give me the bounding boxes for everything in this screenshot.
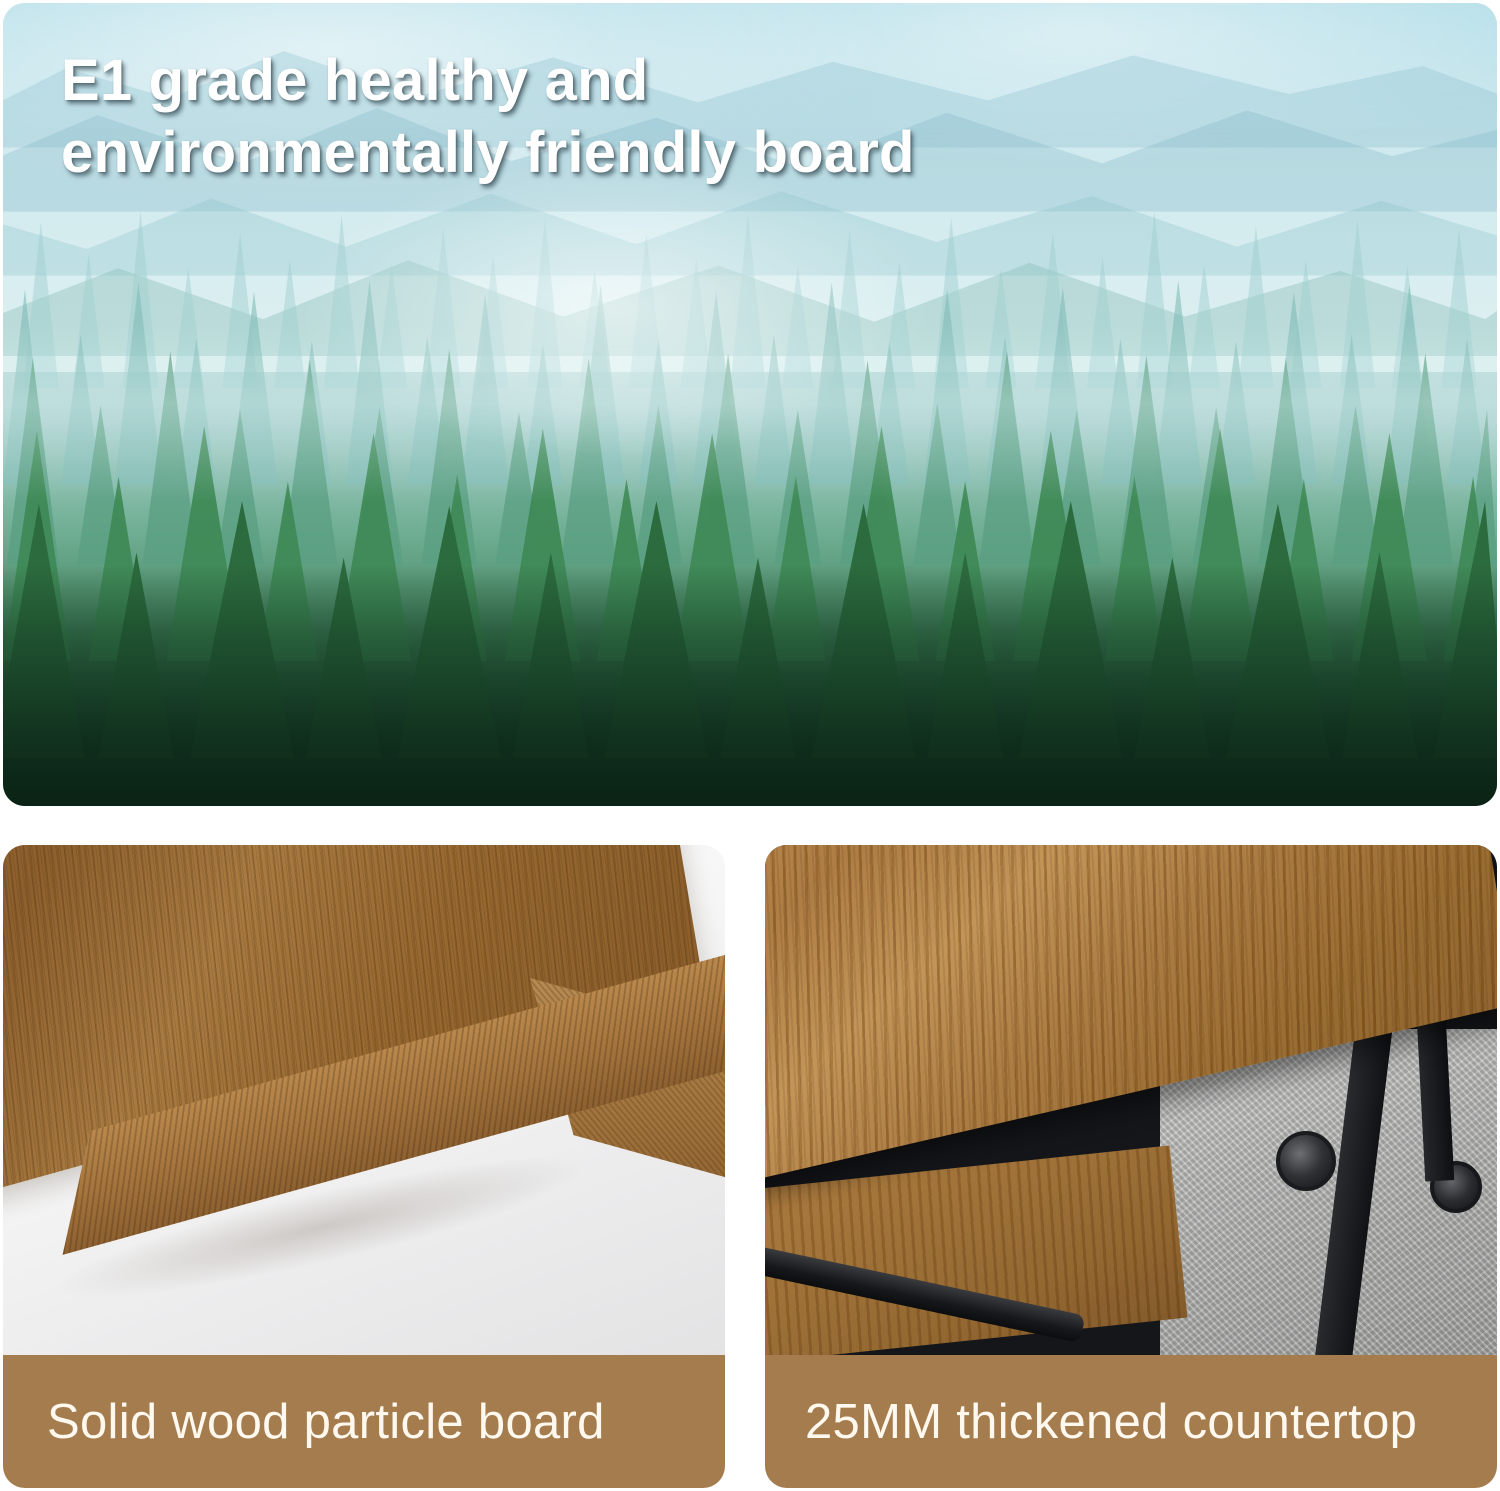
wood-slab-photo — [3, 845, 725, 1355]
caption-text-countertop: 25MM thickened countertop — [805, 1394, 1417, 1450]
feature-card-row: Solid wood particle board 25MM thickened… — [3, 845, 1497, 1488]
feature-card-countertop: 25MM thickened countertop — [765, 845, 1497, 1488]
caption-text-particle-board: Solid wood particle board — [47, 1394, 605, 1450]
caster-wheel-icon — [1276, 1131, 1336, 1191]
product-feature-image: E1 grade healthy and environmentally fri… — [0, 0, 1500, 1491]
caption-bar-particle-board: Solid wood particle board — [3, 1355, 725, 1488]
caption-bar-countertop: 25MM thickened countertop — [765, 1355, 1497, 1488]
forest-floor-shadow — [3, 565, 1497, 806]
desk-countertop-photo — [765, 845, 1497, 1355]
hero-headline: E1 grade healthy and environmentally fri… — [61, 45, 1241, 189]
forest-hero-panel: E1 grade healthy and environmentally fri… — [3, 3, 1497, 806]
wood-slab — [3, 845, 725, 1355]
feature-card-particle-board: Solid wood particle board — [3, 845, 725, 1488]
